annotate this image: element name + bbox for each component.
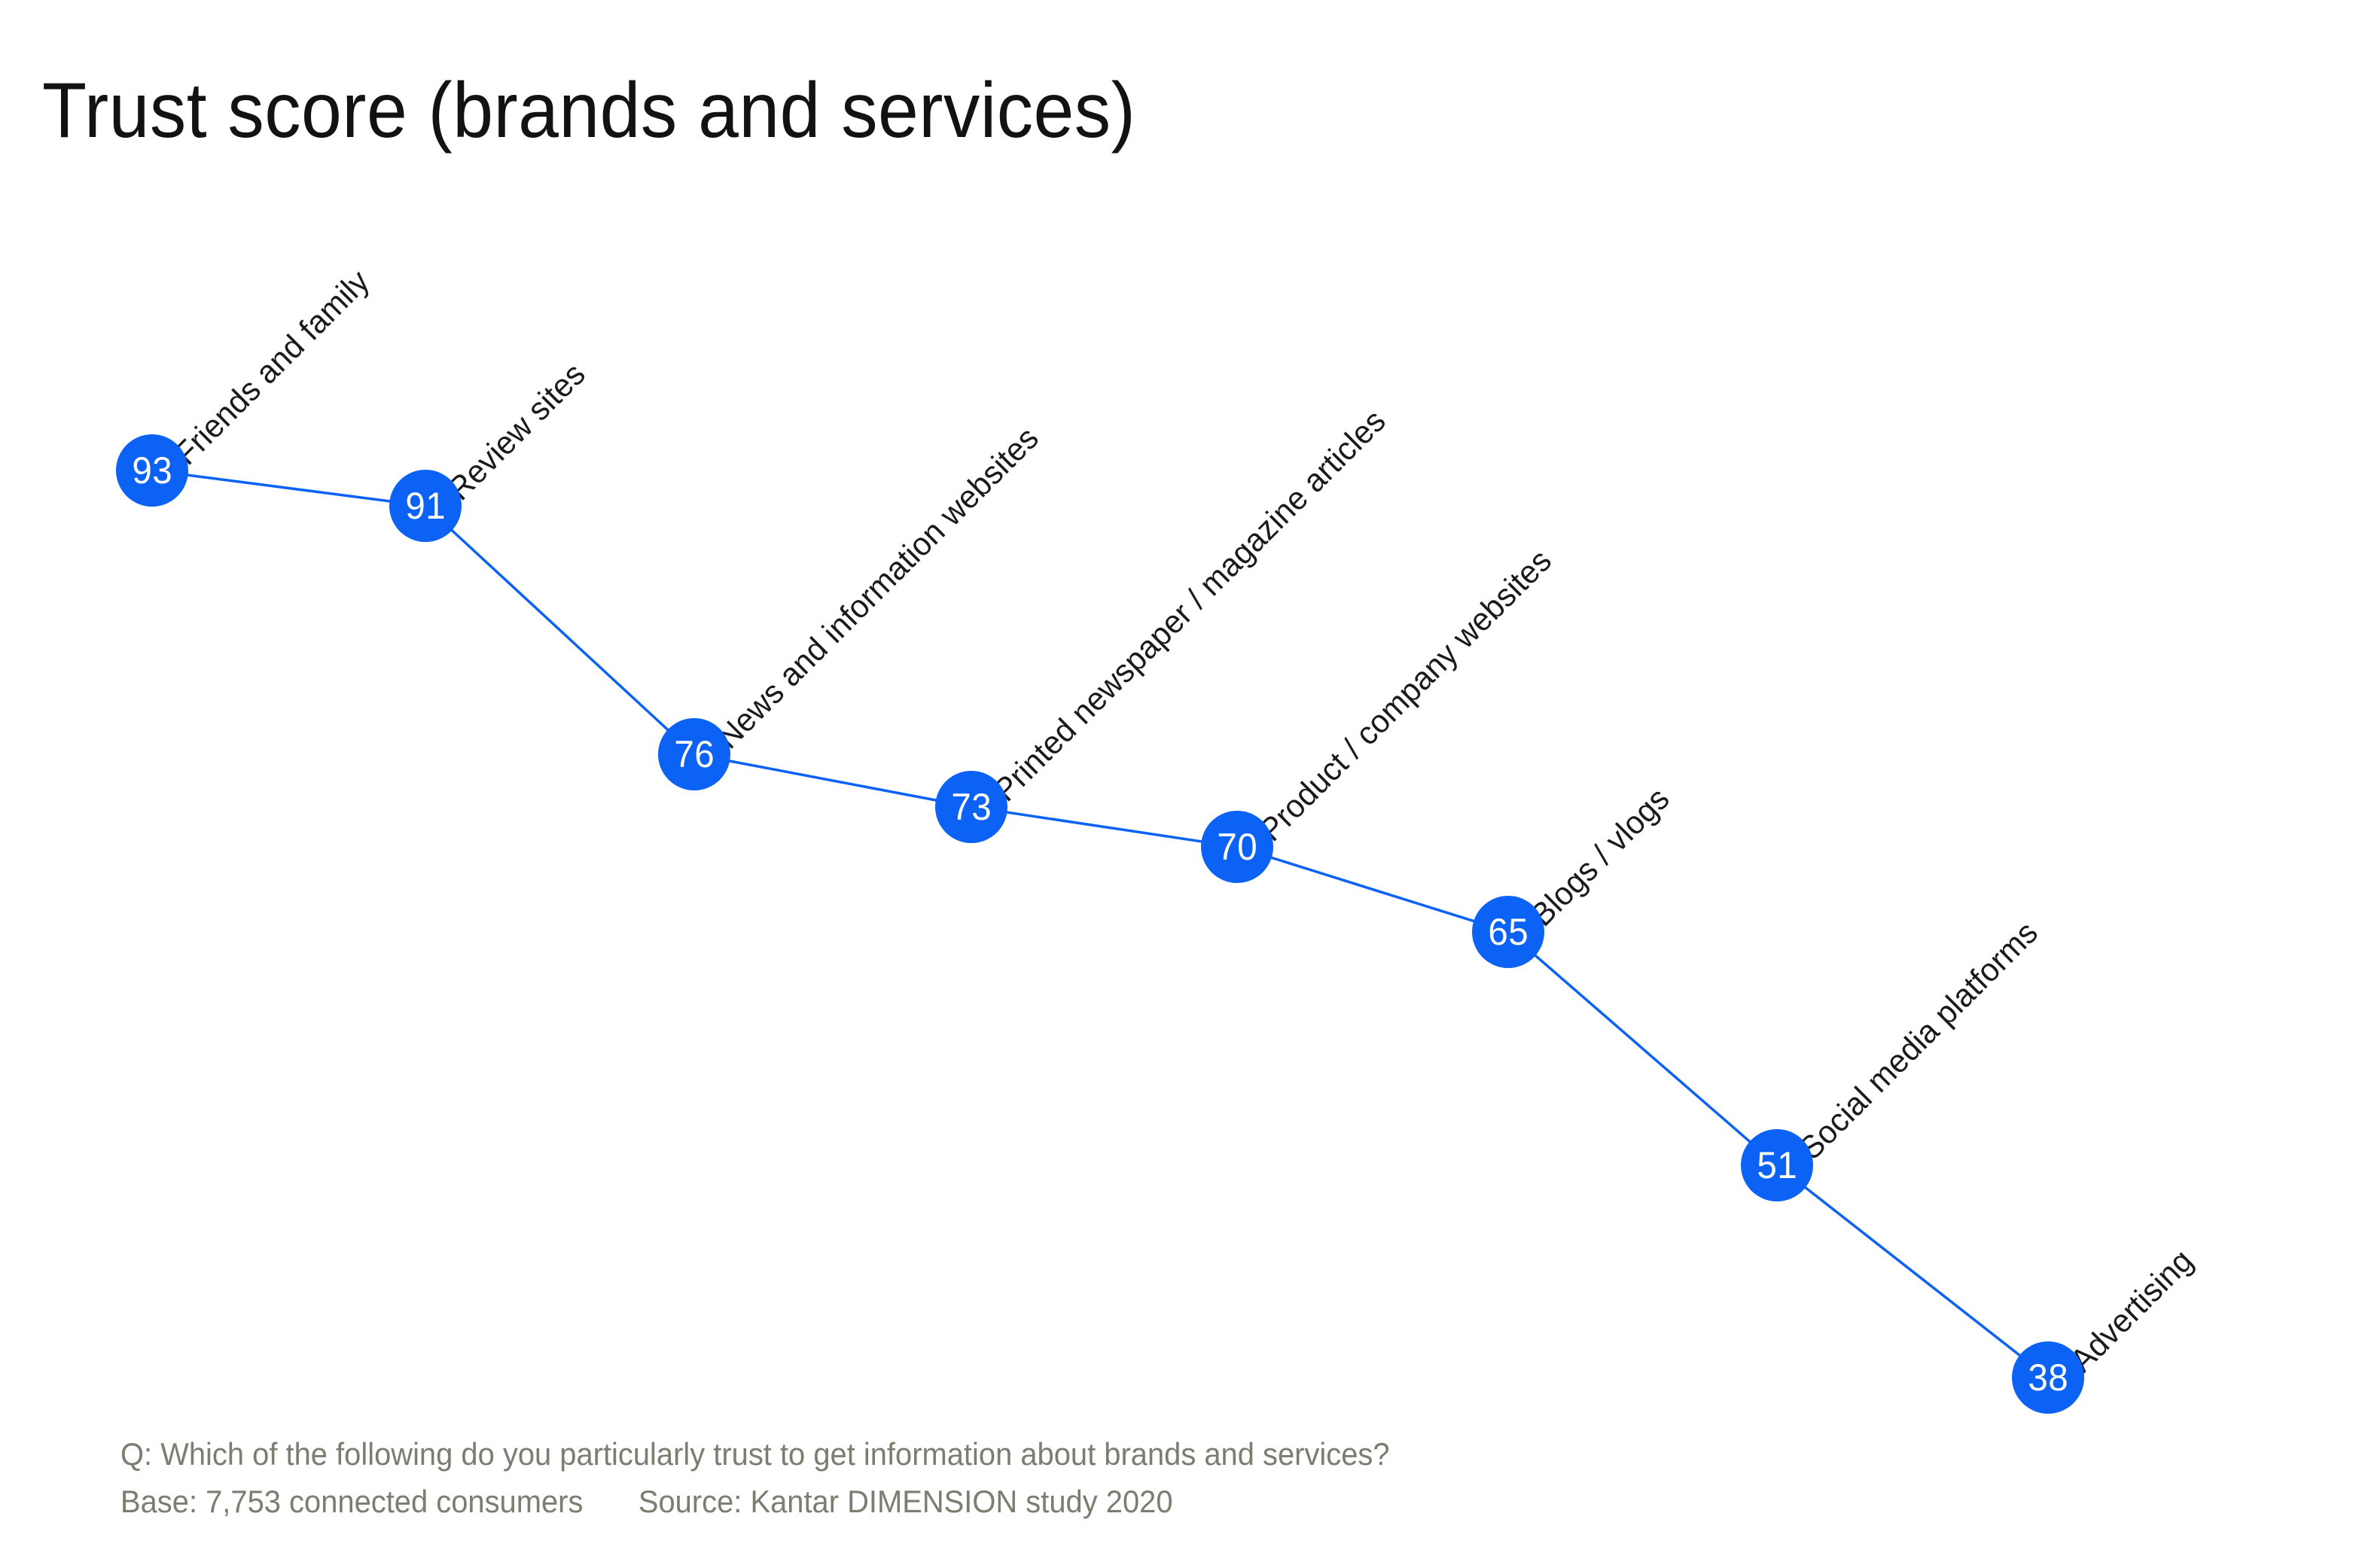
category-label: Social media platforms xyxy=(1793,915,2046,1168)
category-label: Review sites xyxy=(441,356,593,508)
category-label: Friends and family xyxy=(168,263,377,473)
data-point-value: 91 xyxy=(405,487,446,525)
chart-page: Trust score (brands and services) Friend… xyxy=(0,0,2353,1568)
data-point-node[interactable]: 91 xyxy=(389,470,462,542)
data-point-value: 65 xyxy=(1488,913,1529,951)
data-point-node[interactable]: 51 xyxy=(1741,1129,1813,1201)
data-point-node[interactable]: 93 xyxy=(116,434,188,507)
category-label: Product / company websites xyxy=(1253,543,1559,849)
chart-footnote: Q: Which of the following do you particu… xyxy=(120,1430,2229,1525)
data-points-layer: Friends and family93Review sites91News a… xyxy=(0,0,2353,1568)
category-label: Blogs / vlogs xyxy=(1524,781,1678,934)
data-point-node[interactable]: 70 xyxy=(1201,811,1273,883)
data-point-value: 73 xyxy=(951,788,992,826)
data-point-value: 51 xyxy=(1757,1146,1797,1184)
data-point-node[interactable]: 76 xyxy=(658,718,730,790)
data-point-value: 38 xyxy=(2028,1359,2068,1396)
data-point-value: 76 xyxy=(674,735,715,773)
footnote-source: Source: Kantar DIMENSION study 2020 xyxy=(639,1484,1173,1519)
data-point-node[interactable]: 65 xyxy=(1472,896,1544,968)
footnote-base-source: Base: 7,753 connected consumers Source: … xyxy=(120,1478,2123,1525)
data-point-value: 70 xyxy=(1217,828,1257,866)
footnote-base: Base: 7,753 connected consumers xyxy=(120,1484,583,1519)
data-point-node[interactable]: 73 xyxy=(935,771,1007,843)
footnote-question: Q: Which of the following do you particu… xyxy=(120,1430,2123,1478)
category-label: Advertising xyxy=(2064,1243,2201,1380)
category-label: News and information websites xyxy=(710,420,1047,757)
data-point-node[interactable]: 38 xyxy=(2012,1341,2084,1414)
data-point-value: 93 xyxy=(132,452,172,489)
